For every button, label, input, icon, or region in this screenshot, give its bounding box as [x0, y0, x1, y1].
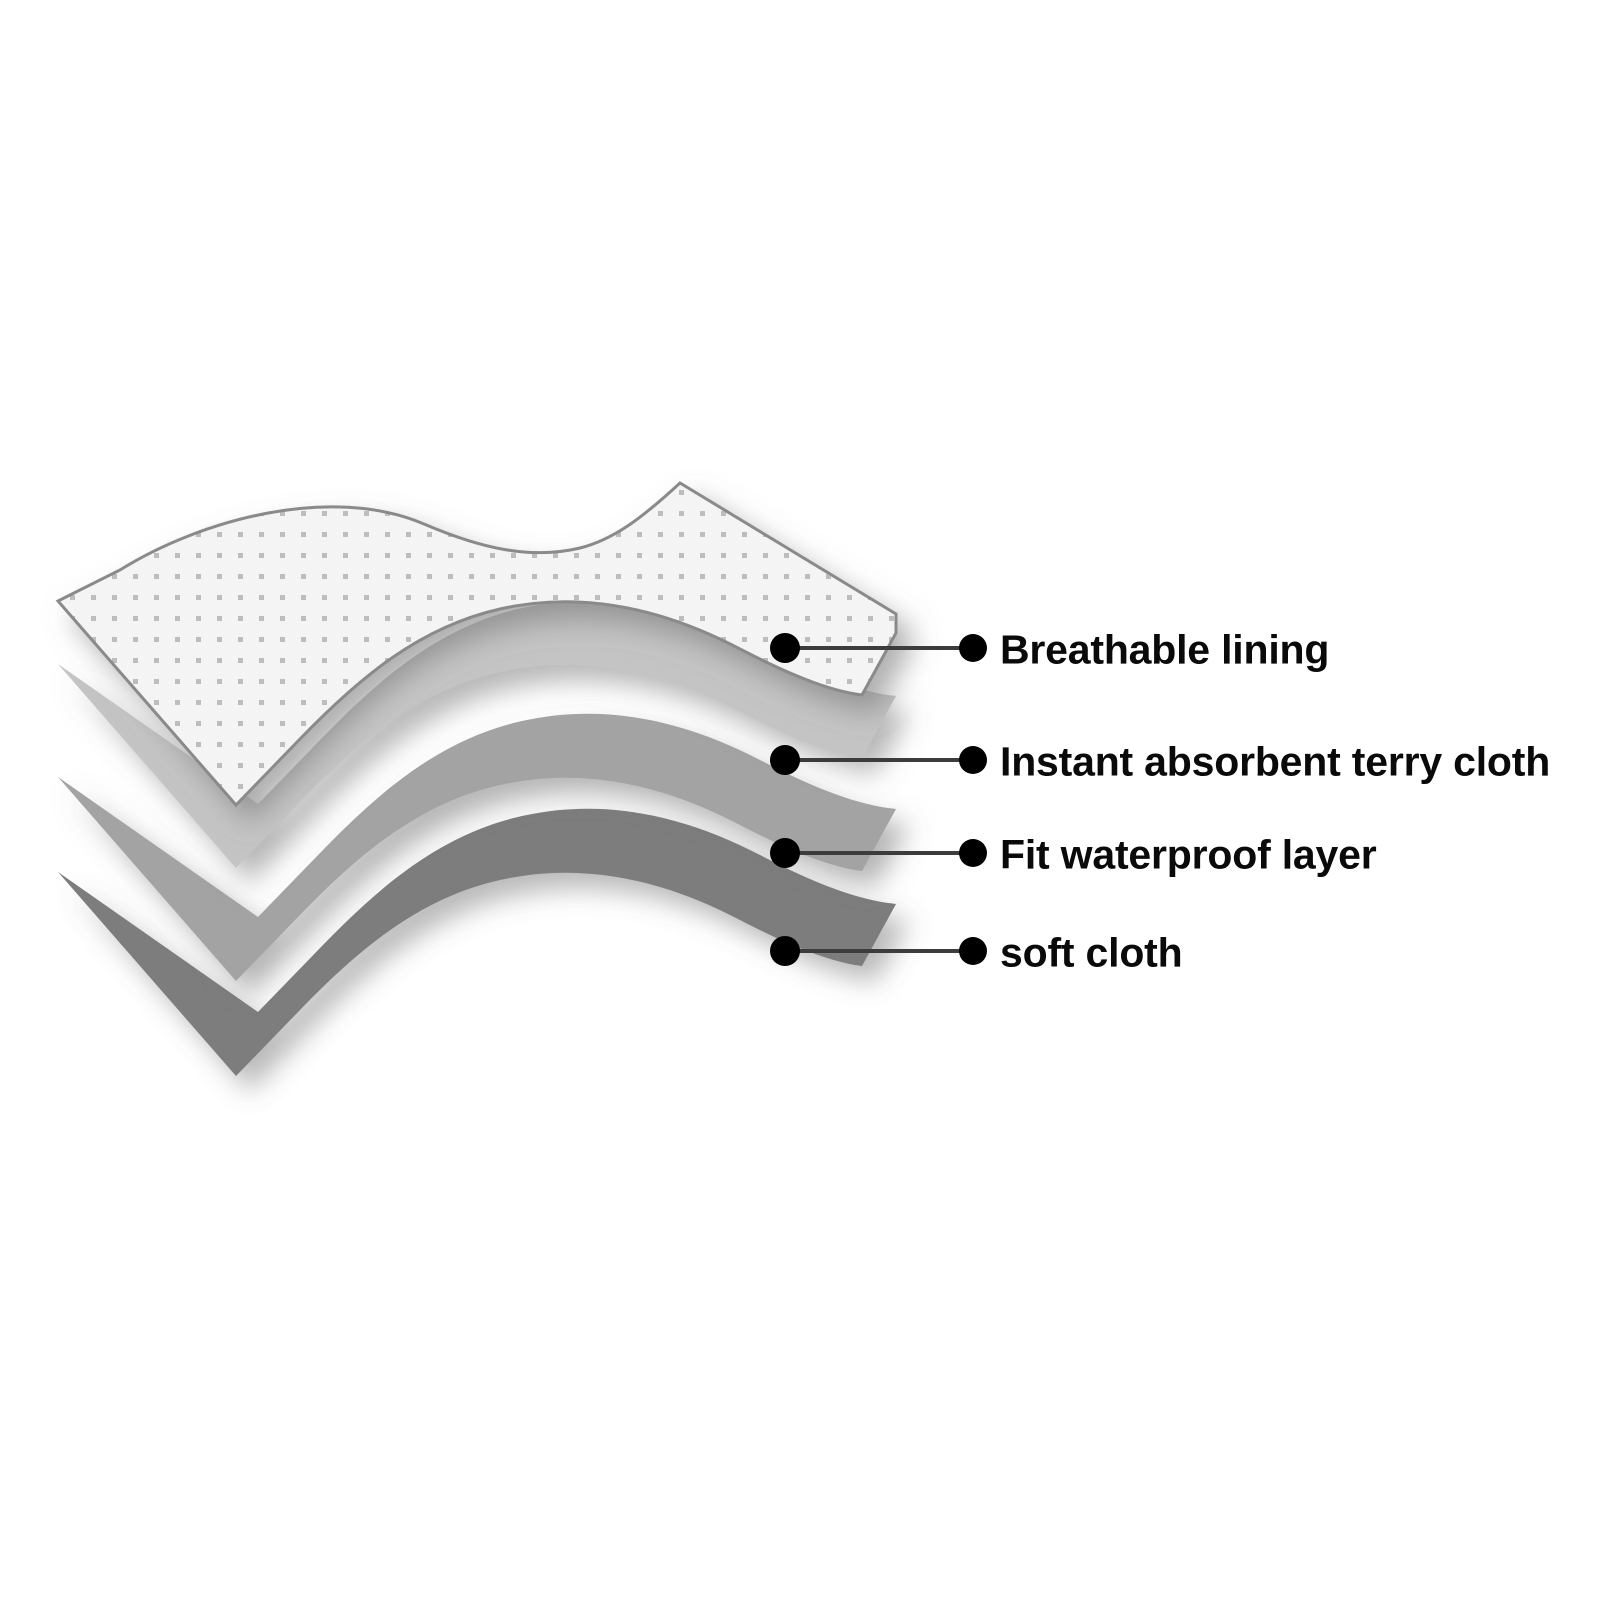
callout-label-waterproof-layer: Fit waterproof layer	[1000, 835, 1376, 876]
anchor-dot-waterproof-layer[interactable]	[770, 838, 800, 868]
fabric-layer-soft-cloth	[58, 809, 896, 1076]
callout-label-breathable-lining: Breathable lining	[1000, 630, 1329, 671]
bullet-dot-terry-cloth[interactable]	[959, 746, 987, 774]
bullet-dot-waterproof-layer[interactable]	[959, 839, 987, 867]
callout-bullet-dots	[959, 634, 987, 965]
anchor-dot-soft-cloth[interactable]	[770, 936, 800, 966]
diagram-canvas: Breathable lining Instant absorbent terr…	[0, 0, 1600, 1600]
callout-label-soft-cloth: soft cloth	[1000, 933, 1182, 974]
callout-label-terry-cloth: Instant absorbent terry cloth	[1000, 742, 1550, 783]
layered-fabric-illustration	[0, 0, 1600, 1600]
anchor-dot-breathable-lining[interactable]	[770, 633, 800, 663]
bullet-dot-breathable-lining[interactable]	[959, 634, 987, 662]
bullet-dot-soft-cloth[interactable]	[959, 937, 987, 965]
anchor-dot-terry-cloth[interactable]	[770, 745, 800, 775]
